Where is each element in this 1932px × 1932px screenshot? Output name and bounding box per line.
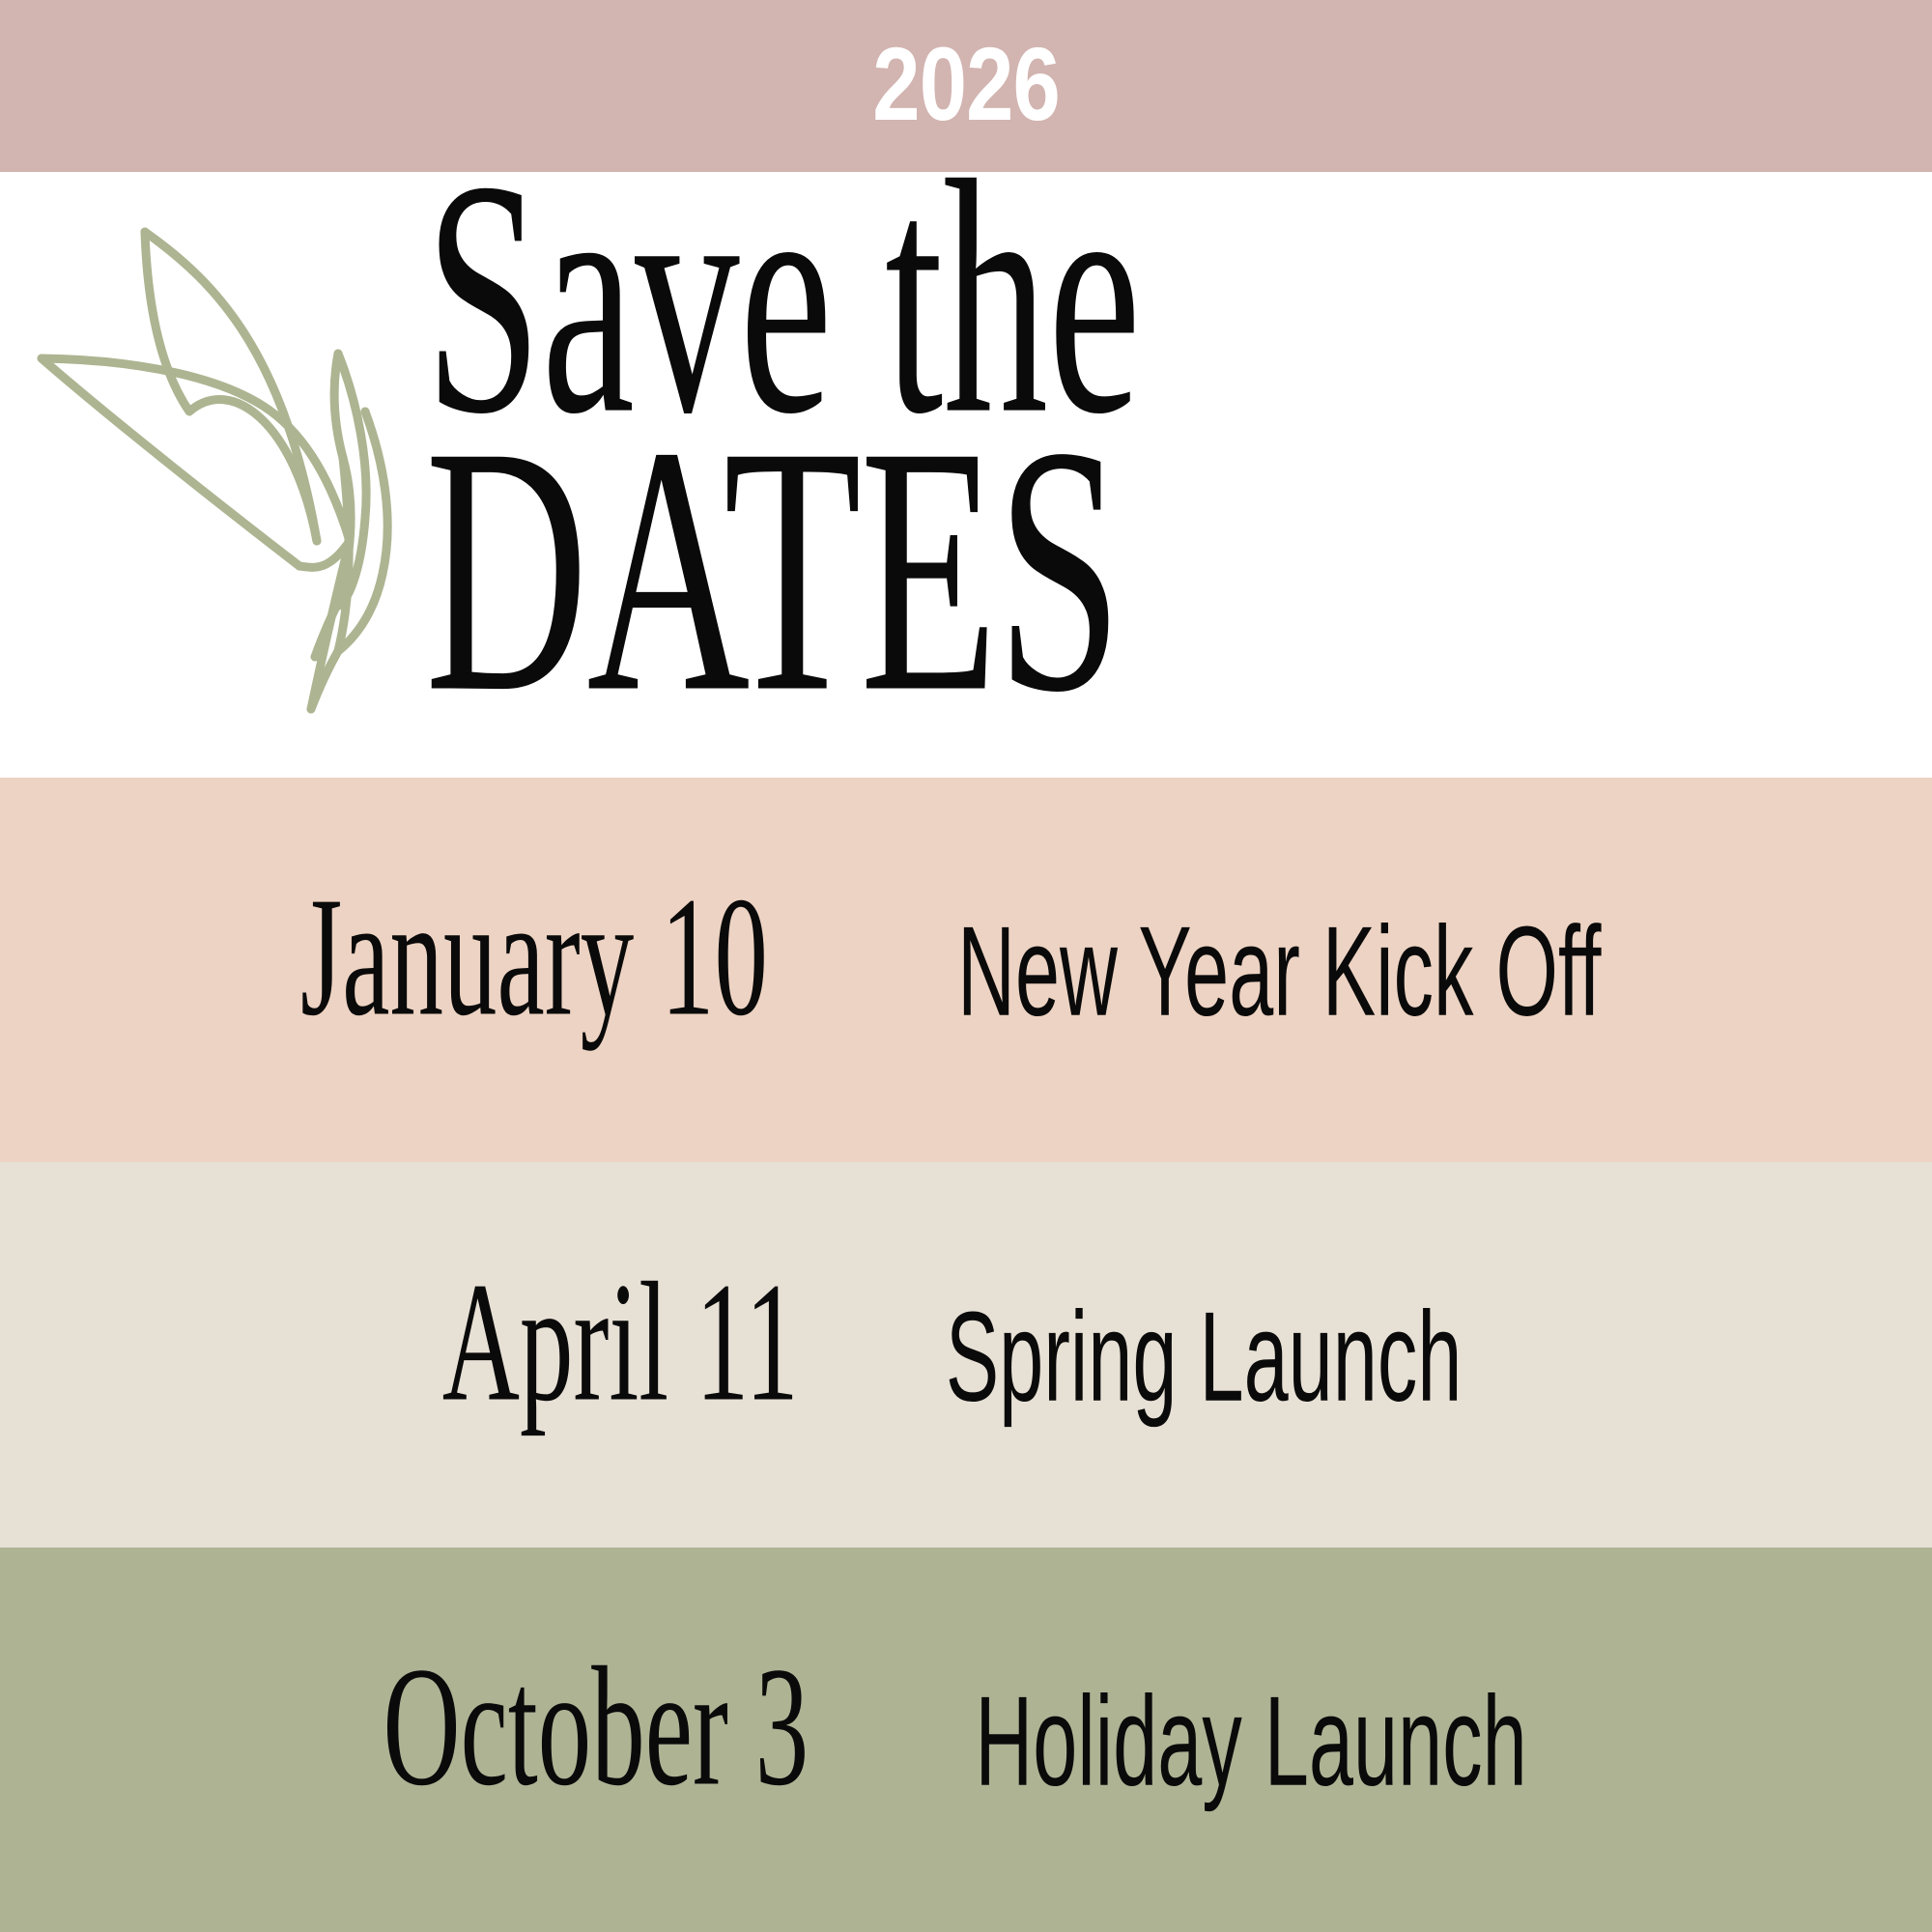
leaf-illustration [10, 182, 415, 742]
event-label: Spring Launch [946, 1293, 1463, 1420]
date-row: October 3 Holiday Launch [0, 1667, 1932, 1812]
date-value: April 11 [441, 1257, 798, 1428]
hero-title-line-2: DATES [425, 402, 1254, 738]
save-the-dates-poster: 2026 [0, 0, 1932, 1932]
event-label: New Year Kick Off [957, 908, 1601, 1036]
schedule-row-april: April 11 Spring Launch [0, 1162, 1932, 1548]
hero-title-group: Save the DATES [425, 172, 1488, 778]
date-row: April 11 Spring Launch [0, 1283, 1932, 1428]
date-value: October 3 [384, 1641, 810, 1812]
year-banner: 2026 [0, 0, 1932, 172]
date-row: January 10 New Year Kick Off [0, 897, 1932, 1042]
schedule-row-october: October 3 Holiday Launch [0, 1548, 1932, 1932]
schedule-row-january: January 10 New Year Kick Off [0, 778, 1932, 1162]
hero-band: Save the DATES [0, 172, 1932, 778]
year-text: 2026 [872, 32, 1060, 136]
event-label: Holiday Launch [975, 1678, 1526, 1805]
date-value: January 10 [300, 871, 768, 1042]
